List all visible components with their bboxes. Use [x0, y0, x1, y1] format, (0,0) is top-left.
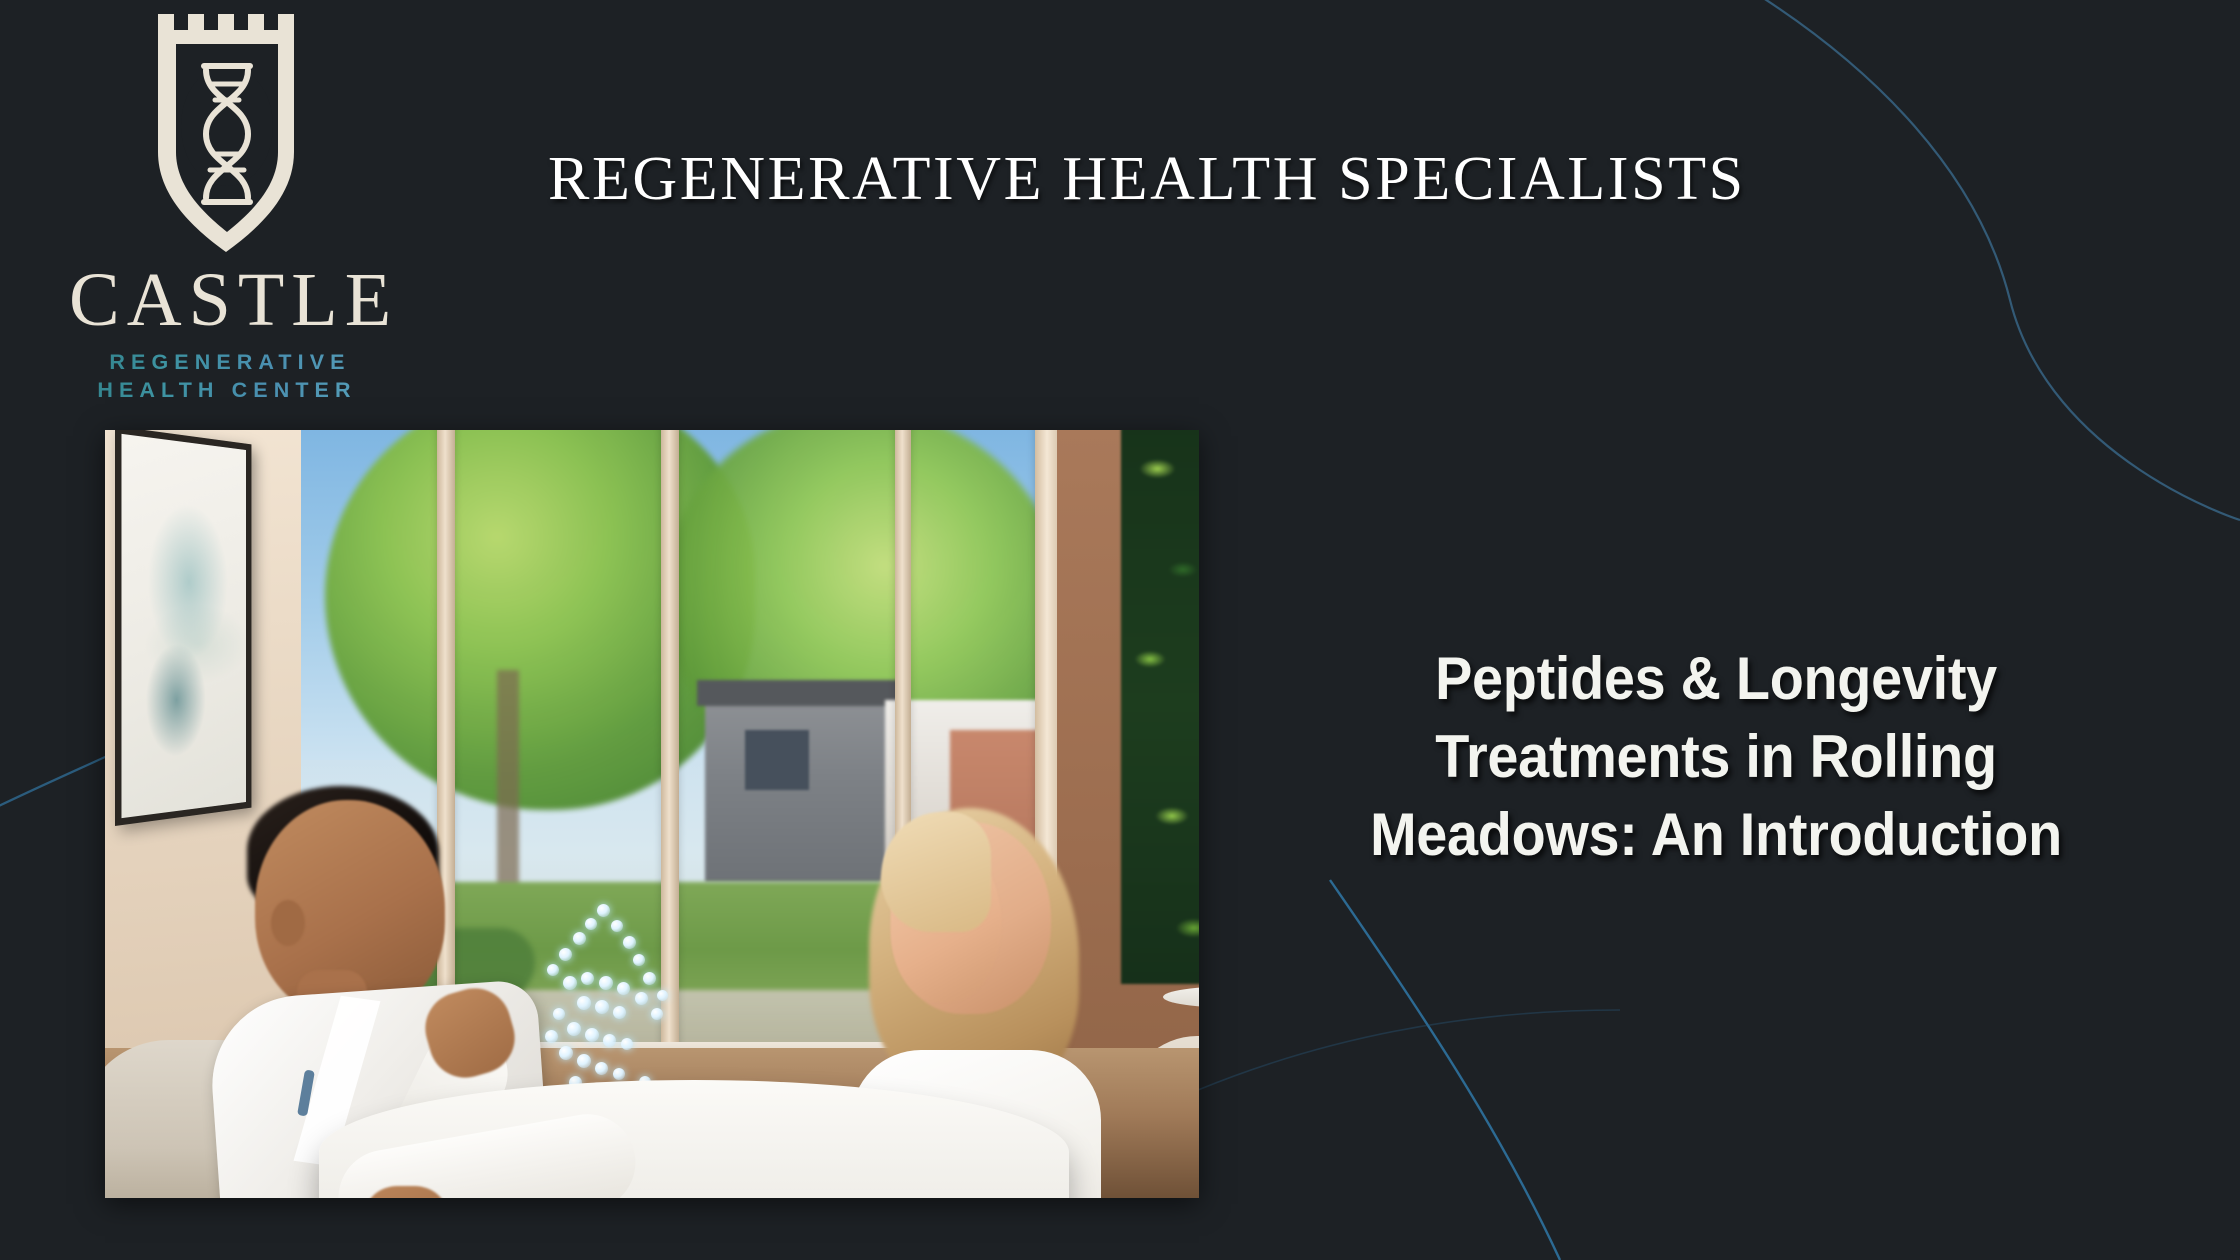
- post-title-line2: Treatments in Rolling: [1270, 718, 2163, 796]
- brand-tagline-line2: HEALTH CENTER: [97, 378, 356, 402]
- building-gray-roof: [697, 680, 903, 706]
- post-title-line1: Peptides & Longevity: [1270, 640, 2163, 718]
- slide-canvas: CASTLE REGENERATIVE HEALTH CENTER REGENE…: [0, 0, 2240, 1260]
- brand-name: CASTLE: [62, 262, 392, 338]
- arc-bottom-center-icon: [1330, 880, 1560, 1260]
- post-title-line3: Meadows: An Introduction: [1270, 796, 2163, 874]
- page-title: REGENERATIVE HEALTH SPECIALISTS: [548, 144, 1868, 215]
- castle-shield-dna-icon: [136, 8, 318, 258]
- doctor-ear: [271, 900, 305, 946]
- wall-art-frame: [115, 430, 251, 826]
- building-window: [745, 730, 809, 790]
- wall-art-canvas: [121, 434, 246, 818]
- brand-tagline-line1: REGENERATIVE: [109, 350, 350, 374]
- arc-bottom-right-icon: [1198, 1010, 1620, 1090]
- living-plant-wall: [1121, 430, 1199, 984]
- post-title: Peptides & Longevity Treatments in Rolli…: [1270, 640, 2163, 874]
- arc-top-right-icon: [1700, 0, 2240, 520]
- hero-photo: [105, 430, 1199, 1198]
- brand-logo[interactable]: CASTLE REGENERATIVE HEALTH CENTER: [62, 8, 392, 405]
- brand-tagline: REGENERATIVE HEALTH CENTER: [62, 348, 392, 405]
